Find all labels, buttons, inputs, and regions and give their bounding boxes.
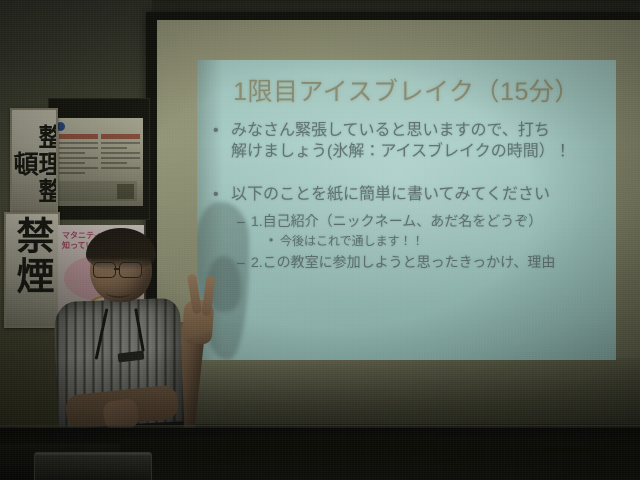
slide-spacer bbox=[211, 168, 606, 184]
poster-text-line bbox=[59, 167, 98, 169]
poster-heading-bar bbox=[101, 134, 140, 139]
dash-marker: – bbox=[237, 252, 245, 272]
laptop[interactable] bbox=[34, 452, 152, 480]
kinen-sign: 禁煙 bbox=[4, 212, 60, 328]
slide-sub-item: – 2.この教室に参加しようと思ったきっかけ、理由 bbox=[237, 252, 606, 272]
slide-bullet: • 以下のことを紙に簡単に書いてみてください bbox=[211, 184, 606, 205]
poster-text-line bbox=[59, 152, 85, 154]
bullet-line: 以下のことを紙に簡単に書いてみてください bbox=[227, 184, 606, 205]
slide-bullet: • みなさん緊張していると思いますので、打ち 解けましょう(氷解：アイスブレイク… bbox=[211, 120, 606, 162]
seiri-seiton-sign-text: 整理整頓 bbox=[12, 110, 58, 215]
poster-text-line bbox=[59, 162, 85, 164]
slide-sub-item: – 1.自己紹介（ニックネーム、あだ名をどうぞ） bbox=[237, 211, 606, 231]
poster-footer-block bbox=[59, 181, 137, 201]
sub-item-text: 2.この教室に参加しようと思ったきっかけ、理由 bbox=[251, 254, 555, 270]
poster-text-line bbox=[101, 162, 127, 164]
slide-title: 1限目アイスブレイク（15分） bbox=[197, 72, 616, 108]
poster-text-line bbox=[59, 172, 85, 174]
dash-marker: – bbox=[237, 211, 245, 231]
poster-text-line bbox=[101, 152, 140, 154]
poster-text-line bbox=[59, 157, 98, 159]
poster-text-line bbox=[101, 167, 140, 169]
kinen-sign-text: 禁煙 bbox=[13, 214, 51, 296]
poster-heading-bar bbox=[59, 134, 98, 139]
classroom-photo-scene: 1限目アイスブレイク（15分） • みなさん緊張していると思いますので、打ち 解… bbox=[0, 0, 640, 480]
bullet-marker: • bbox=[213, 184, 219, 205]
poster-text-line bbox=[59, 147, 98, 149]
glasses-bridge bbox=[114, 268, 120, 270]
poster-text-line bbox=[101, 142, 140, 144]
sub-sub-item-text: 今後はこれで通します！！ bbox=[280, 234, 424, 248]
seiri-seiton-sign: 整理整頓 bbox=[10, 108, 58, 217]
projected-slide: 1限目アイスブレイク（15分） • みなさん緊張していると思いますので、打ち 解… bbox=[197, 60, 616, 360]
slide-body: • みなさん緊張していると思いますので、打ち 解けましょう(氷解：アイスブレイク… bbox=[211, 120, 606, 273]
poster-text-line bbox=[101, 147, 127, 149]
bullet-line: 解けましょう(氷解：アイスブレイクの時間）！ bbox=[227, 141, 606, 162]
information-poster bbox=[53, 118, 143, 206]
slide-sub-sub-item: • 今後はこれで通します！！ bbox=[269, 232, 606, 250]
screen-lower-shading bbox=[157, 358, 640, 426]
poster-column-right bbox=[101, 134, 140, 172]
presenter-smile bbox=[106, 287, 132, 298]
poster-text-line bbox=[59, 142, 98, 144]
bullet-marker: • bbox=[269, 231, 273, 249]
glasses-icon bbox=[119, 262, 142, 278]
poster-column-left bbox=[59, 134, 98, 177]
sub-item-text: 1.自己紹介（ニックネーム、あだ名をどうぞ） bbox=[251, 213, 542, 229]
glasses-icon bbox=[93, 262, 116, 278]
bullet-marker: • bbox=[213, 120, 219, 141]
bullet-line: みなさん緊張していると思いますので、打ち bbox=[227, 120, 606, 141]
poster-text-line bbox=[101, 157, 140, 159]
